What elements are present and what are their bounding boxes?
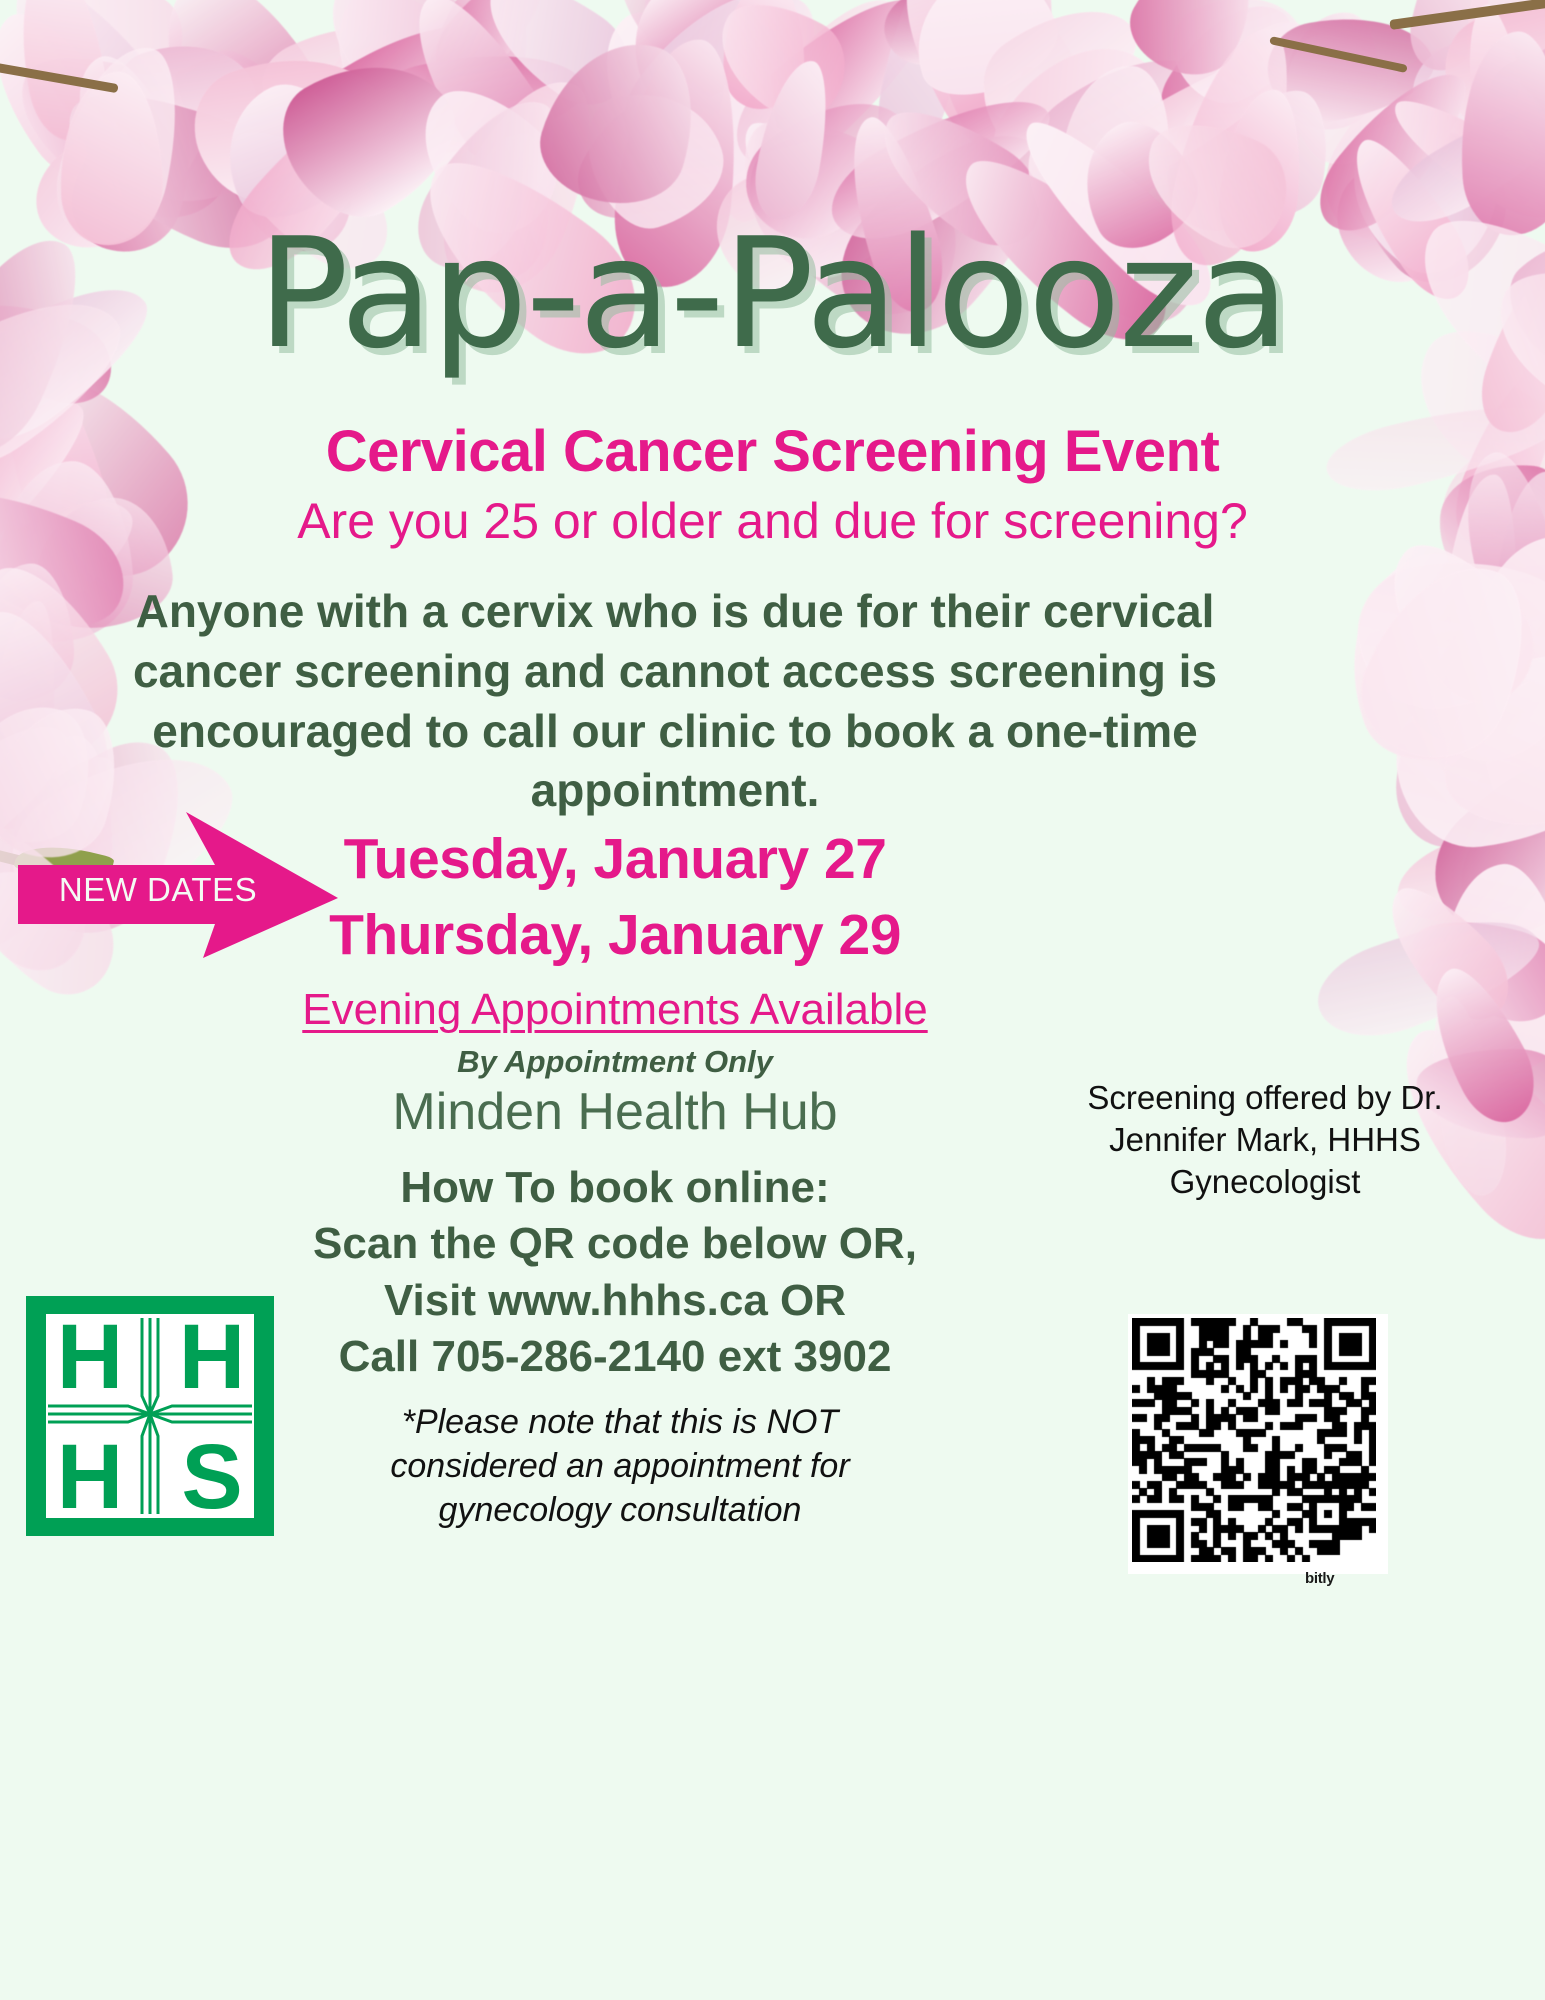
logo-letter-h1: H [57,1306,123,1408]
booking-option-phone: Call 705-286-2140 ext 3902 [255,1329,975,1385]
flower-petal [1071,26,1314,208]
flower-petal [1408,545,1545,790]
flower-petal [598,0,848,218]
event-subtitle: Cervical Cancer Screening Event [0,418,1545,485]
flower-petal [1463,701,1545,848]
flower-petal [875,0,1020,78]
by-appointment-only-note: By Appointment Only [285,1044,945,1080]
qr-brand-label: bitly [1305,1570,1334,1587]
flower-petal [527,22,713,221]
flower-petal [1367,870,1527,1034]
flower-petal [643,4,703,161]
flower-petal [251,3,418,137]
flower-petal [0,458,137,646]
flower-petal [605,0,777,125]
flower-petal [880,0,1032,158]
qr-code-canvas[interactable] [1132,1318,1376,1562]
flower-petal [868,0,981,169]
flower-petal [1416,367,1545,614]
flower-petal [624,0,736,196]
flower-petal [1408,704,1545,968]
event-date-1: Tuesday, January 27 [285,826,945,892]
flower-petal [0,28,254,238]
flower-petal [1402,0,1503,78]
flower-petal [1356,593,1545,830]
flower-petal [57,44,179,184]
flower-petal [1387,789,1545,941]
flower-petal [920,0,1069,104]
logo-letter-h2: H [179,1306,245,1408]
logo-letter-s: S [181,1426,242,1528]
flower-petal [253,0,518,221]
flower-petal [716,0,951,192]
provider-note: Screening offered by Dr. Jennifer Mark, … [1055,1077,1475,1204]
qr-code[interactable] [1128,1314,1388,1574]
flower-petal [1435,611,1545,777]
flower-petal [0,0,146,195]
flower-petal [748,55,838,225]
booking-heading: How To book online: [255,1160,975,1216]
flower-petal [747,0,920,166]
flower-petal [0,561,77,703]
flower-petal [717,36,777,222]
flower-petal [133,91,338,216]
flower-petal [0,594,131,838]
flower-petal [1438,652,1545,830]
flower-petal [179,30,403,221]
logo-letter-h3: H [57,1426,123,1528]
flower-petal [565,0,794,226]
flower-petal [1387,627,1540,857]
flower-petal [1360,521,1545,724]
flower-petal [127,0,347,193]
flower-petal [466,0,649,122]
new-dates-label: NEW DATES [40,871,276,909]
flower-petal [411,0,534,158]
flower-petal [1454,29,1545,238]
flower-petal [1317,531,1545,780]
flower-petal [388,0,571,194]
flower-petal [1277,5,1387,136]
flower-petal [103,23,269,173]
booking-option-web: Visit www.hhhs.ca OR [255,1273,975,1329]
flower-petal [298,0,539,162]
venue-name: Minden Health Hub [285,1082,945,1142]
flower-petal [141,35,291,163]
event-date-2: Thursday, January 29 [285,902,945,968]
booking-instructions: How To book online: Scan the QR code bel… [255,1160,975,1385]
flower-petal [966,0,1158,155]
hhhs-logo-icon: H H H S [26,1296,274,1536]
flower-petal [1058,61,1175,209]
flower-petal [1476,30,1545,158]
flower-petal [591,0,782,111]
flower-petal [1343,541,1545,782]
booking-option-qr: Scan the QR code below OR, [255,1216,975,1272]
flower-petal [889,0,1115,197]
disclaimer-note: *Please note that this is NOT considered… [330,1400,910,1533]
flower-petal [1378,75,1545,241]
flower-petal [1306,892,1545,1056]
hhhs-logo: H H H S [26,1296,274,1536]
flower-petal [1400,5,1545,160]
flower-petal [1406,607,1545,749]
flower-petal [1347,541,1545,723]
flower-petal [1426,858,1545,1082]
flower-petal [1428,0,1545,162]
flower-petal [1379,84,1545,232]
flower-petal [301,0,512,174]
flower-petal [1159,0,1317,119]
flower-petal [1142,0,1317,176]
flower-branch [0,60,119,93]
flower-petal [956,40,1143,213]
flower-petal [1471,528,1545,690]
evening-appointments-note: Evening Appointments Available [285,985,945,1035]
flower-petal [1229,83,1336,222]
flower-petal [0,597,65,832]
flower-petal [0,0,193,181]
flower-petal [1256,13,1421,182]
poster: Pap-a-Palooza Cervical Cancer Screening … [0,0,1545,2000]
flower-petal [453,0,539,161]
flower-petal [1344,551,1545,725]
flower-petal [1443,721,1545,933]
flower-petal [356,34,592,169]
flower-petal [1401,905,1545,1032]
flower-petal [38,0,201,113]
body-paragraph: Anyone with a cervix who is due for thei… [120,582,1230,821]
flower-petal [1116,0,1272,93]
flower-petal [313,5,534,189]
flower-petal [1435,0,1545,195]
flower-petal [422,0,562,98]
flower-petal [897,0,1070,109]
flower-petal [722,0,805,110]
event-question: Are you 25 or older and due for screenin… [0,492,1545,550]
page-title: Pap-a-Palooza [0,218,1545,370]
flower-petal [1389,674,1545,856]
flower-branch [1269,36,1408,73]
flower-petal [1260,3,1441,131]
flower-petal [5,0,116,147]
flower-petal [1453,0,1545,214]
flower-petal [699,0,864,135]
flower-branch [1389,0,1545,30]
flower-petal [1491,18,1545,202]
